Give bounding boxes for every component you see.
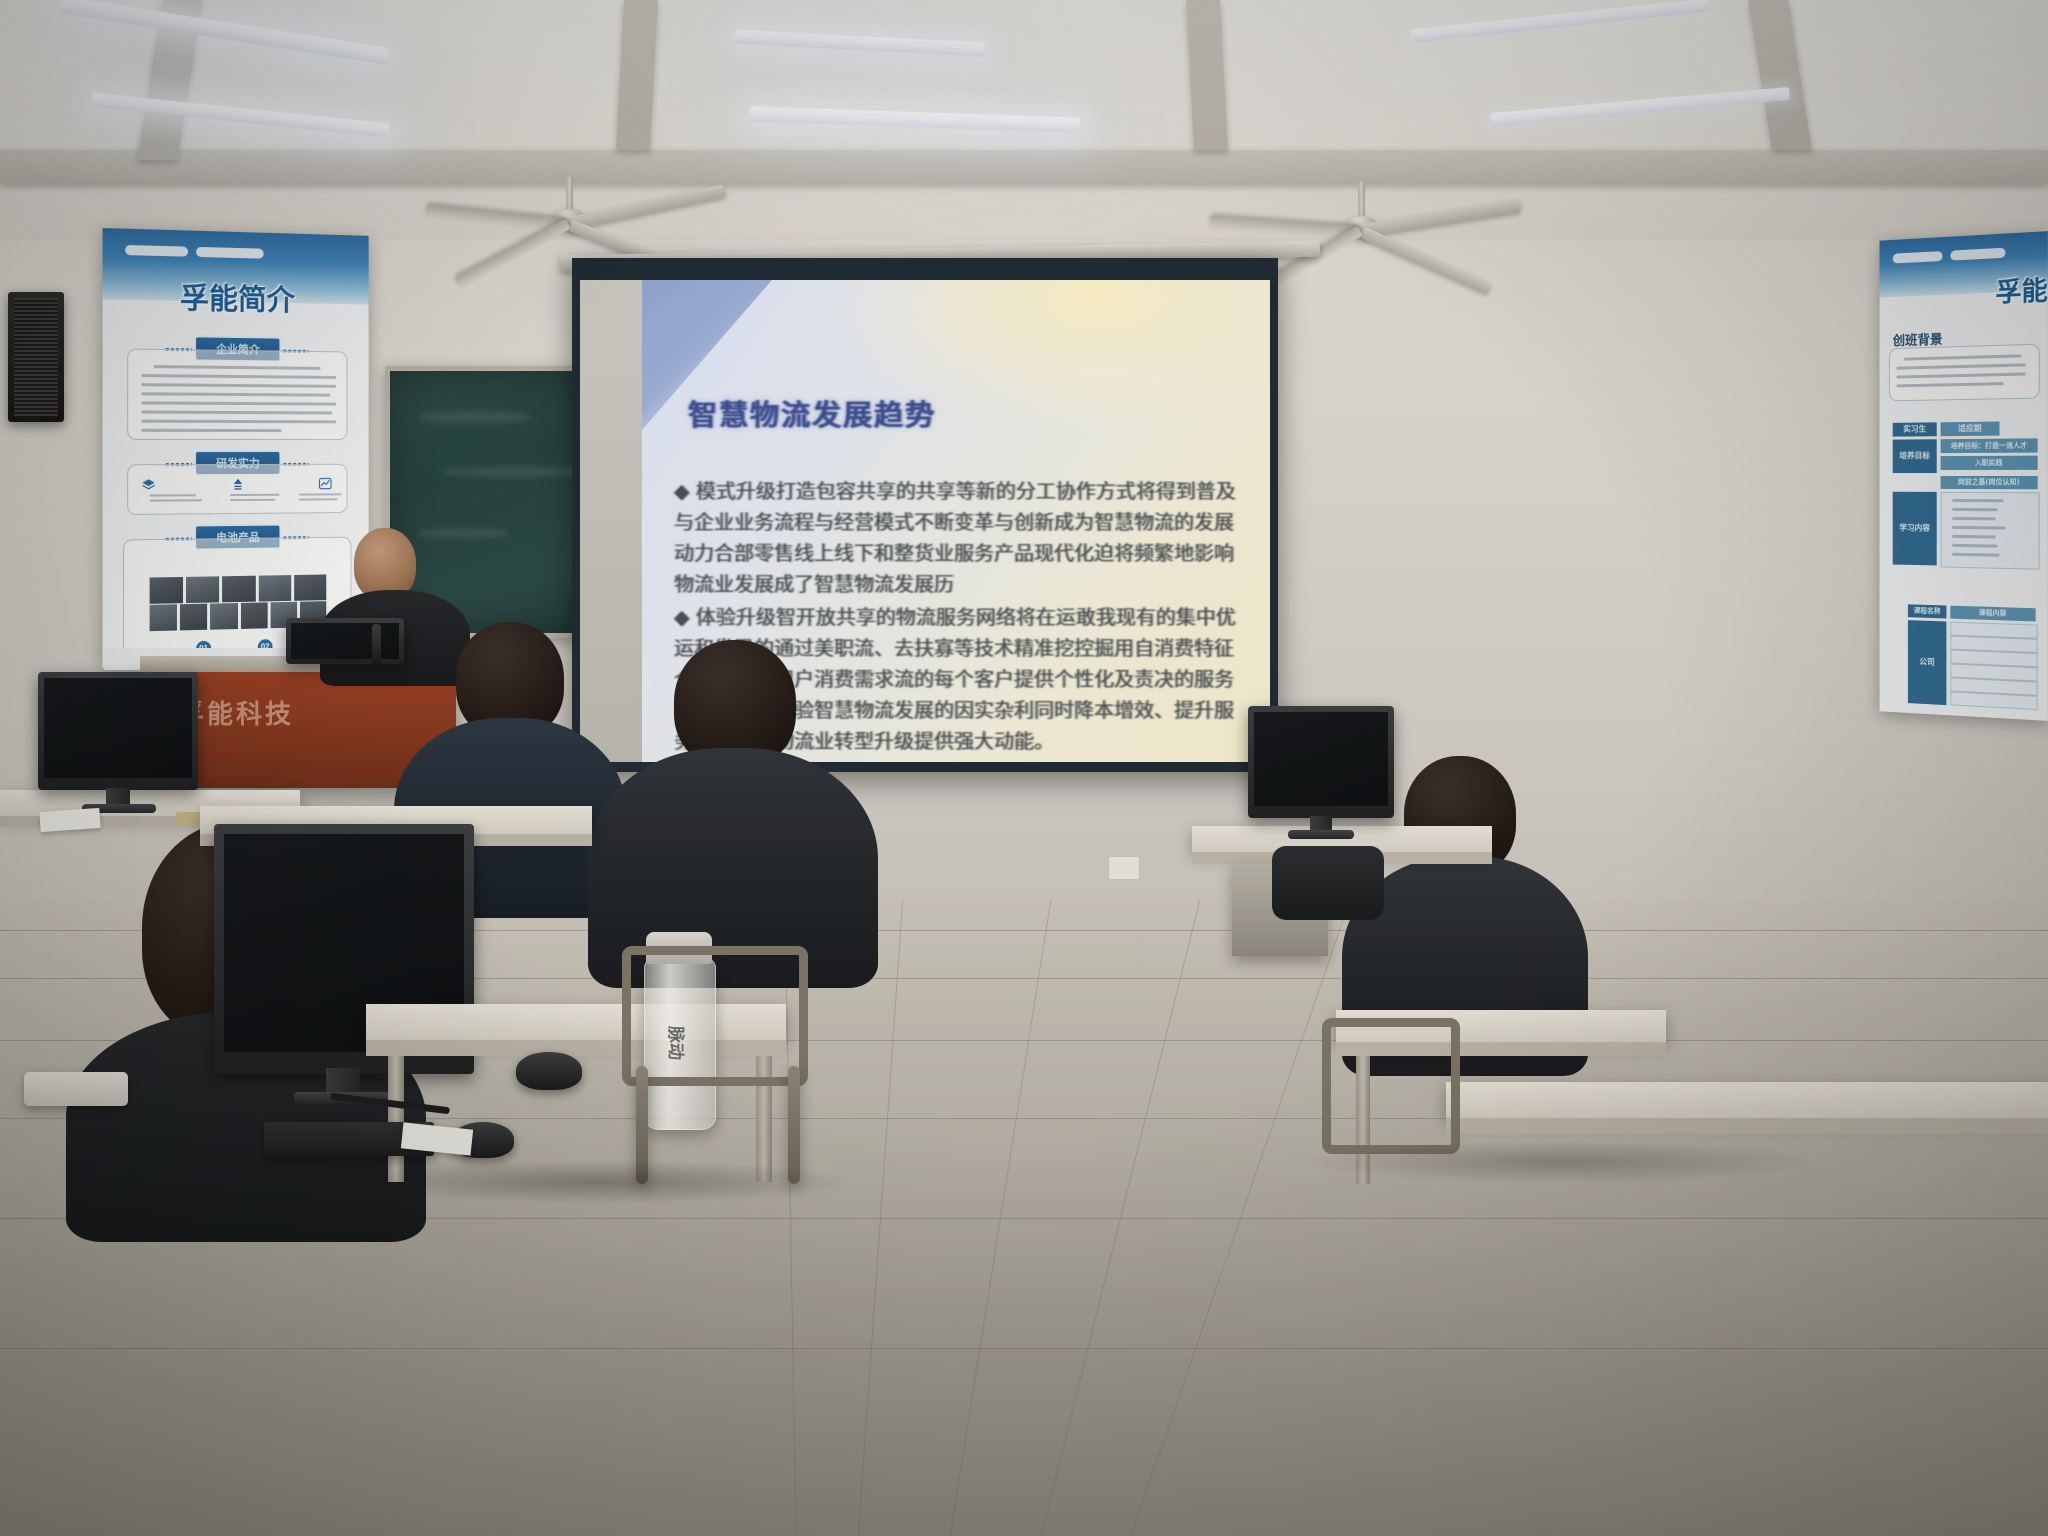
fan-blade [1360, 227, 1493, 295]
right-poster-row-header: 学习内容 [1893, 492, 1937, 566]
desk-right-corner [1446, 1082, 2048, 1118]
presenter-microphone [372, 624, 381, 666]
course-table-header: 课程内容 [1950, 606, 2035, 622]
presenter-laptop [286, 618, 404, 664]
company-logo-left [125, 245, 188, 257]
chair-back [622, 946, 808, 1086]
right-poster-col-header: 实习生 [1893, 422, 1937, 436]
poster-icon-row [103, 477, 369, 490]
right-poster-col-header: 适应期 [1941, 422, 2000, 437]
slide-title: 智慧物流发展趋势 [688, 392, 936, 434]
ceiling-beam [0, 150, 2048, 184]
chart-growth-icon [319, 478, 333, 490]
speaker-grill [14, 298, 58, 416]
right-poster-learning-list [1941, 492, 2040, 570]
fan-blade [1361, 199, 1521, 237]
slide-bullet: ◆ 模式升级打造包容共享的共享等新的分工协作方式将得到普及与企业业务流程与经营模… [674, 476, 1249, 600]
floor-shadow [340, 1160, 860, 1204]
monitor-left [38, 672, 198, 790]
layers-icon [141, 478, 155, 490]
right-poster-cell: 培养目标：打造一流人才 [1941, 438, 2038, 453]
power-strip [24, 1072, 128, 1106]
paper-sheet [39, 808, 100, 832]
course-table-group: 公司 [1908, 620, 1946, 705]
right-poster-class-background: 孚能 创班背景 实习生 适应期 培养目标 培养目标：打造一流人才 入职实践 岗前… [1880, 231, 2048, 721]
left-poster-title: 孚能简介 [103, 273, 369, 320]
floor-shadow [1300, 1140, 1820, 1184]
backpack [1272, 846, 1384, 920]
computer-mouse[interactable] [516, 1052, 582, 1090]
product-photo-strip-top [150, 574, 327, 603]
right-poster-cell: 岗前之基(岗位认知) [1941, 476, 2038, 489]
monitor-right-back [1248, 706, 1394, 818]
student-center [588, 640, 876, 970]
right-poster-cell: 入职实践 [1941, 456, 2038, 470]
wall-power-socket [1108, 856, 1140, 880]
fan-blade [569, 184, 726, 230]
right-poster-title: 孚能 [1880, 269, 2048, 314]
course-table-header: 课程名称 [1908, 604, 1946, 618]
company-logo-right [196, 247, 264, 259]
chair-back [1322, 1018, 1460, 1154]
ceiling-fan [1280, 192, 1600, 302]
arrow-up-icon [231, 478, 245, 490]
right-poster-row-header: 培养目标 [1893, 439, 1937, 473]
wall-speaker [8, 292, 64, 422]
classroom-photo: 智慧物流发展趋势 ◆ 模式升级打造包容共享的共享等新的分工协作方式将得到普及与企… [0, 0, 2048, 1536]
course-row [1950, 691, 2037, 710]
desk-edge [1446, 1118, 2048, 1134]
